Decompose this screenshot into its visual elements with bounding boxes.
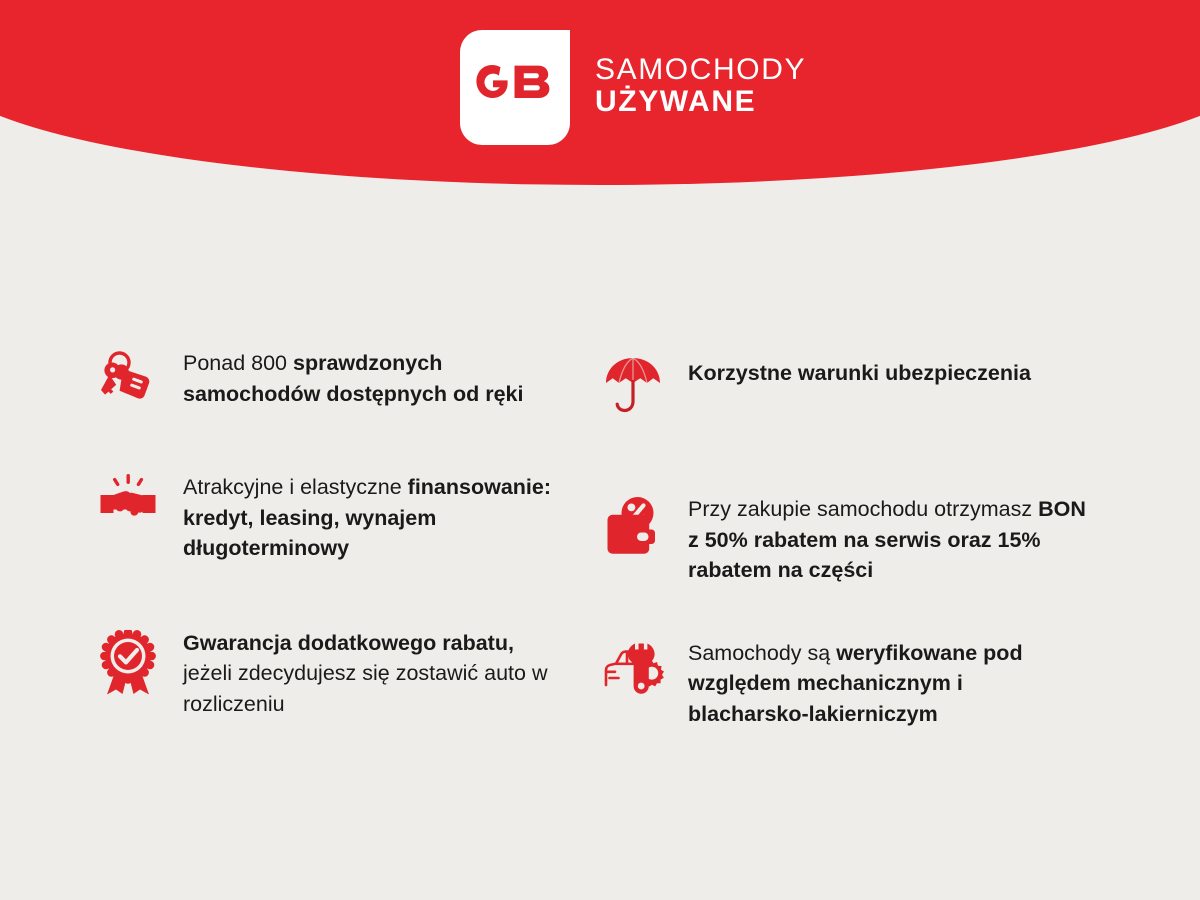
feature-text: Samochody są weryfikowane pod względem m…: [688, 634, 1088, 730]
feature-text-bold: Korzystne warunki ubezpieczenia: [688, 361, 1031, 385]
feature-item-vehicle-inspection: Samochody są weryfikowane pod względem m…: [600, 634, 1160, 730]
feature-grid: Ponad 800 sprawdzonych samochodów dostęp…: [0, 338, 1200, 729]
feature-column-left: Ponad 800 sprawdzonych samochodów dostęp…: [0, 338, 600, 729]
feature-column-right: Korzystne warunki ubezpieczenia: [600, 338, 1200, 729]
car-wrench-gear-icon: [600, 634, 666, 704]
handshake-icon: [95, 468, 161, 538]
promo-page: SAMOCHODY UŻYWANE: [0, 0, 1200, 900]
feature-text-regular-suffix: jeżeli zdecydujesz się zostawić auto w r…: [183, 661, 547, 716]
brand-logo: SAMOCHODY UŻYWANE: [460, 30, 806, 145]
feature-text: Ponad 800 sprawdzonych samochodów dostęp…: [183, 344, 563, 409]
feature-item-trade-in-guarantee: Gwarancja dodatkowego rabatu, jeżeli zde…: [95, 624, 600, 720]
feature-text: Przy zakupie samochodu otrzymasz BON z 5…: [688, 490, 1088, 586]
feature-text-regular: Ponad 800: [183, 351, 293, 375]
umbrella-icon: [600, 350, 666, 420]
feature-text: Gwarancja dodatkowego rabatu, jeżeli zde…: [183, 624, 563, 720]
feature-item-financing: Atrakcyjne i elastyczne finansowanie: kr…: [95, 468, 600, 564]
feature-text: Korzystne warunki ubezpieczenia: [688, 350, 1031, 389]
feature-text-bold: Gwarancja dodatkowego rabatu,: [183, 631, 514, 655]
award-rosette-icon: [95, 624, 161, 694]
brand-line-1: SAMOCHODY: [595, 54, 806, 85]
brand-wordmark: SAMOCHODY UŻYWANE: [595, 54, 806, 120]
feature-text-regular: Przy zakupie samochodu otrzymasz: [688, 497, 1038, 521]
feature-item-service-voucher: Przy zakupie samochodu otrzymasz BON z 5…: [600, 490, 1160, 586]
brand-line-2: UŻYWANE: [595, 86, 806, 117]
feature-text: Atrakcyjne i elastyczne finansowanie: kr…: [183, 468, 563, 564]
wallet-percent-icon: [600, 490, 666, 560]
feature-text-regular: Samochody są: [688, 641, 836, 665]
feature-item-cars-available: Ponad 800 sprawdzonych samochodów dostęp…: [95, 344, 600, 414]
feature-text-regular: Atrakcyjne i elastyczne: [183, 475, 408, 499]
gb-logo-mark-icon: [460, 30, 570, 145]
key-tag-icon: [95, 344, 161, 414]
feature-item-insurance: Korzystne warunki ubezpieczenia: [600, 350, 1160, 420]
